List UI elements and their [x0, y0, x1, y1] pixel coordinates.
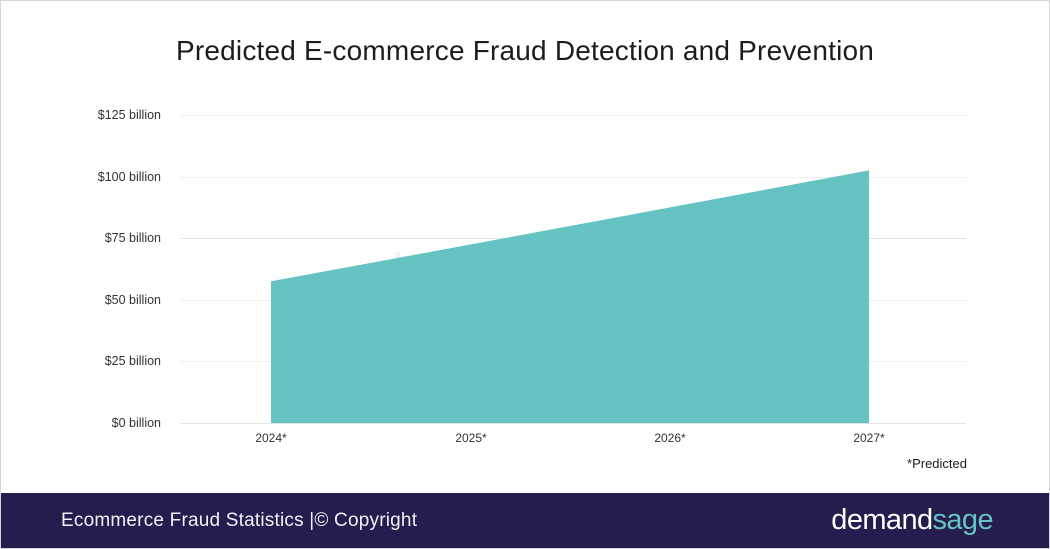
- x-axis-tick-2027: 2027*: [853, 431, 884, 445]
- x-axis-tick-2026: 2026*: [654, 431, 685, 445]
- demandsage-logo: demandsage: [831, 504, 1021, 537]
- x-axis-tick-2024: 2024*: [255, 431, 286, 445]
- logo-demand-text: demand: [831, 504, 932, 536]
- chart-card: Predicted E-commerce Fraud Detection and…: [0, 0, 1050, 549]
- logo-sage-text: sage: [933, 504, 994, 536]
- footer-bar: Ecommerce Fraud Statistics |© Copyright …: [1, 493, 1049, 548]
- predicted-annotation: *Predicted: [907, 456, 967, 471]
- area-series-shape: [1, 1, 1050, 471]
- x-axis-tick-2025: 2025*: [455, 431, 486, 445]
- footer-caption: Ecommerce Fraud Statistics |© Copyright: [61, 510, 417, 532]
- chart-plot-region: Predicted E-commerce Fraud Detection and…: [1, 1, 1049, 493]
